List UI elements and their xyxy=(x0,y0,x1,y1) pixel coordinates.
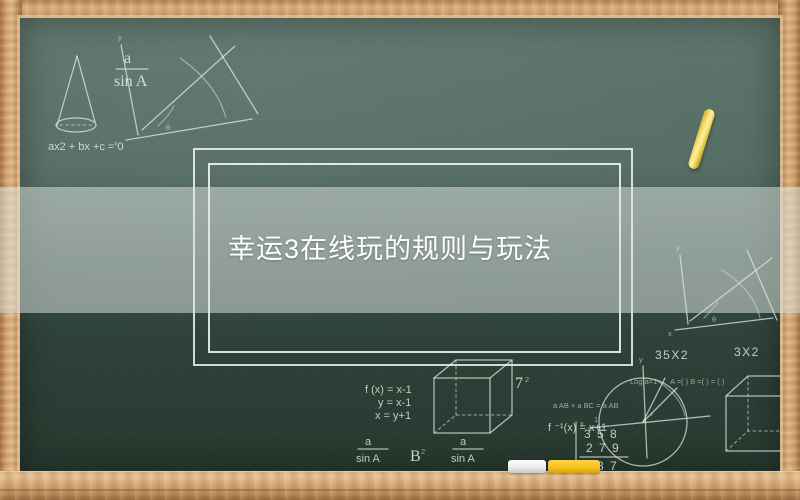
svg-text:sin A: sin A xyxy=(451,453,476,465)
decorative-rect-inner xyxy=(208,163,621,353)
svg-text:θ: θ xyxy=(712,315,716,324)
svg-text:x: x xyxy=(114,139,118,148)
angle-axes-diagram-left: y x θ xyxy=(114,33,258,148)
chalk-ledge xyxy=(0,471,800,500)
chalk-artwork-layer: a sin A ax2 + bx +c = 0 y x θ xyxy=(20,18,780,473)
svg-text:a: a xyxy=(460,436,467,448)
svg-text:y: y xyxy=(676,243,680,252)
formula-inverse-function: f ⁻¹(x) = x+1 xyxy=(548,422,607,434)
formula-b-squared: B 2 xyxy=(410,447,425,465)
formula-a-over-sin-a-lower-left: a sin A xyxy=(356,436,388,465)
formula-log-note: Log a=1 xyxy=(630,377,657,386)
cone-diagram xyxy=(56,56,96,132)
circle-sector-diagram: x y r xyxy=(580,355,710,466)
blackboard-banner-image: a sin A ax2 + bx +c = 0 y x θ xyxy=(0,0,800,500)
formula-quadratic: ax2 + bx +c = 0 xyxy=(48,141,124,153)
svg-text:7: 7 xyxy=(515,375,523,392)
label-3x2: 3X2 xyxy=(734,345,760,359)
svg-text:sin A: sin A xyxy=(114,73,148,90)
label-35x2: 35X2 xyxy=(655,348,689,362)
white-chalk-on-ledge xyxy=(508,460,546,473)
formula-triangle-sides: a AB + a BC = a AB xyxy=(553,401,618,410)
decorative-rect-outer xyxy=(193,148,633,366)
chalkboard-texture xyxy=(20,18,780,473)
svg-text:y: y xyxy=(118,33,122,42)
frame-left-rail xyxy=(0,0,22,500)
svg-text:y = x-1: y = x-1 xyxy=(378,397,411,409)
svg-text:B: B xyxy=(410,448,421,465)
svg-text:2: 2 xyxy=(525,375,529,384)
svg-text:y: y xyxy=(639,355,643,364)
cube-diagram-center xyxy=(434,360,512,433)
svg-text:a: a xyxy=(365,436,372,448)
svg-text:2 7 9: 2 7 9 xyxy=(586,441,620,455)
svg-text:f (x) = x-1: f (x) = x-1 xyxy=(365,384,412,396)
svg-text:r: r xyxy=(651,409,654,418)
svg-text:2: 2 xyxy=(421,447,425,456)
svg-text:1: 1 xyxy=(594,415,598,424)
formula-a-over-sin-a-left: a sin A xyxy=(114,50,148,90)
yellow-chalk-on-ledge xyxy=(548,460,600,473)
svg-text:sin A: sin A xyxy=(356,453,381,465)
svg-text:x: x xyxy=(580,419,584,428)
svg-text:3 5 8: 3 5 8 xyxy=(584,427,618,441)
ledge-seam-line xyxy=(0,489,800,491)
formula-seven-squared: 7 2 xyxy=(515,375,529,392)
svg-text:θ: θ xyxy=(166,123,170,132)
formula-matrix-product: A =( ) B =( ) = ( ) xyxy=(670,377,725,386)
formula-function-block: f (x) = x-1 y = x-1 x = y+1 xyxy=(365,384,412,422)
svg-text:x: x xyxy=(668,329,672,338)
frame-top-rail xyxy=(0,0,800,20)
formula-a-over-sin-a-lower-center: a sin A xyxy=(451,436,483,465)
frame-right-rail xyxy=(778,0,800,500)
yellow-chalk-on-board xyxy=(687,108,716,171)
svg-text:a: a xyxy=(124,50,131,67)
svg-text:x = y+1: x = y+1 xyxy=(375,410,411,422)
angle-axes-diagram-right: y x θ xyxy=(668,243,777,338)
cube-diagram-right xyxy=(726,376,780,451)
chalkboard-surface: a sin A ax2 + bx +c = 0 y x θ xyxy=(20,18,780,473)
